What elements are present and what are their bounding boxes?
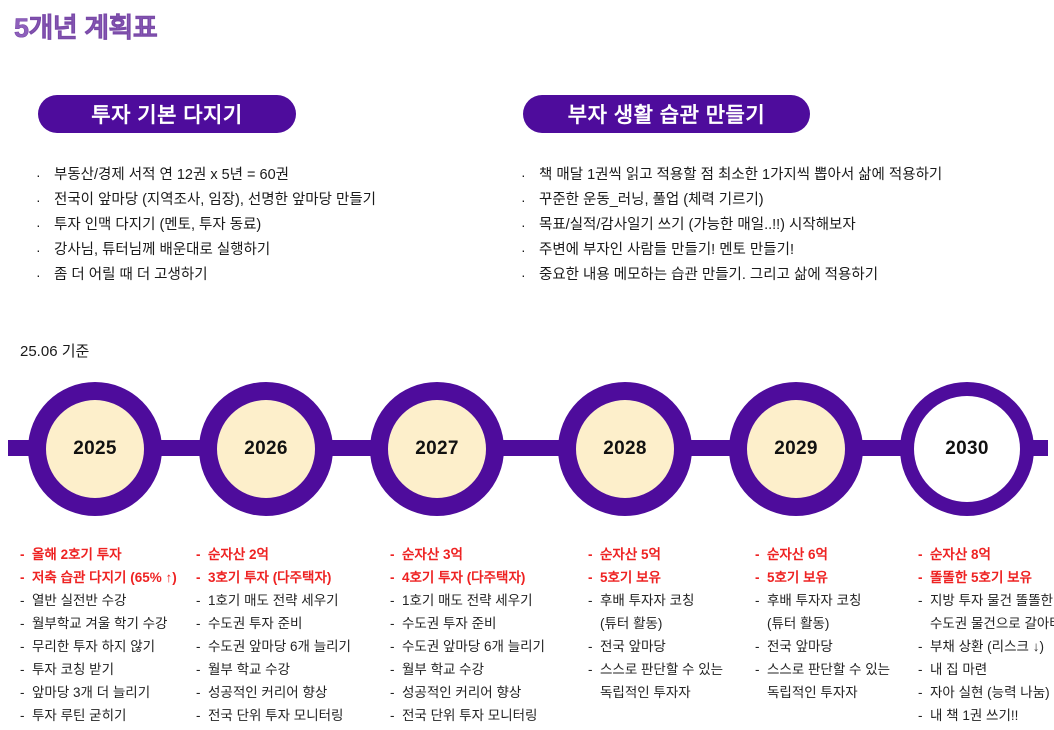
detail-item: -순자산 2억 (196, 543, 389, 566)
detail-dash-icon: - (390, 589, 402, 612)
detail-dash-icon: - (20, 704, 32, 727)
timeline: 2025 2026 2027 2028 2029 2030 (0, 375, 1054, 523)
timeline-year-label: 2025 (73, 438, 116, 460)
detail-item-label: 전국 단위 투자 모니터링 (208, 704, 343, 727)
detail-item-label: (튜터 활동) (600, 612, 662, 635)
detail-item: -후배 투자자 코칭 (588, 589, 754, 612)
timeline-node-2026[interactable]: 2026 (199, 382, 333, 516)
detail-item-label: 후배 투자자 코칭 (767, 589, 861, 612)
detail-item-label: 자아 실현 (능력 나눔) (930, 681, 1050, 704)
detail-item-label: 스스로 판단할 수 있는 (600, 658, 723, 681)
detail-item: -월부학교 겨울 학기 수강 (20, 612, 195, 635)
detail-item: -투자 코칭 받기 (20, 658, 195, 681)
detail-item-label: 내 책 1권 쓰기!! (930, 704, 1018, 727)
detail-item: -전국 단위 투자 모니터링 (196, 704, 389, 727)
bullet-item: ·중요한 내용 메모하는 습관 만들기. 그리고 삶에 적용하기 (521, 263, 942, 288)
timeline-node-fill: 2030 (914, 396, 1020, 502)
page-title: 5개년 계획표 (14, 6, 157, 45)
bullet-item-label: 좀 더 어릴 때 더 고생하기 (54, 263, 208, 288)
detail-dash-icon: - (196, 635, 208, 658)
detail-dash-icon: - (196, 704, 208, 727)
detail-dash-icon: - (755, 589, 767, 612)
detail-dash-icon: - (196, 658, 208, 681)
detail-item: -전국 앞마당 (755, 635, 917, 658)
bullet-item-label: 꾸준한 운동_러닝, 풀업 (체력 기르기) (539, 188, 764, 213)
detail-dash-icon: - (196, 681, 208, 704)
detail-item-label: 무리한 투자 하지 않기 (32, 635, 155, 658)
bullet-item-label: 중요한 내용 메모하는 습관 만들기. 그리고 삶에 적용하기 (539, 263, 878, 288)
detail-item: -후배 투자자 코칭 (755, 589, 917, 612)
detail-dash-icon: - (20, 681, 32, 704)
detail-item-label: 월부 학교 수강 (402, 658, 484, 681)
detail-item-label: 열반 실전반 수강 (32, 589, 126, 612)
detail-item: -올해 2호기 투자 (20, 543, 195, 566)
detail-item: -5호기 보유 (588, 566, 754, 589)
detail-item: -월부 학교 수강 (196, 658, 389, 681)
detail-dash-icon: - (20, 635, 32, 658)
detail-item-label: 성공적인 커리어 향상 (402, 681, 521, 704)
detail-item-label: 5호기 보유 (600, 566, 661, 589)
detail-dash-icon: - (20, 543, 32, 566)
detail-item-label: 1호기 매도 전략 세우기 (208, 589, 339, 612)
detail-item: -수도권 투자 준비 (390, 612, 587, 635)
timeline-node-fill: 2027 (388, 400, 486, 498)
timeline-node-2030[interactable]: 2030 (900, 382, 1034, 516)
bullet-dot-icon: · (36, 238, 54, 263)
detail-item: -스스로 판단할 수 있는 (588, 658, 754, 681)
detail-dash-icon: - (755, 658, 767, 681)
detail-item: -성공적인 커리어 향상 (196, 681, 389, 704)
bullet-dot-icon: · (521, 238, 539, 263)
detail-item-label: 3호기 투자 (다주택자) (208, 566, 331, 589)
detail-dash-icon: - (588, 658, 600, 681)
section-badge-rich-habits: 부자 생활 습관 만들기 (523, 95, 810, 133)
detail-item-label: 월부 학교 수강 (208, 658, 290, 681)
detail-dash-icon: - (196, 612, 208, 635)
bullet-item: ·목표/실적/감사일기 쓰기 (가능한 매일..!!) 시작해보자 (521, 213, 942, 238)
bullet-item: ·전국이 앞마당 (지역조사, 임장), 선명한 앞마당 만들기 (36, 188, 376, 213)
bullet-item: ·주변에 부자인 사람들 만들기! 멘토 만들기! (521, 238, 942, 263)
detail-item: -독립적인 투자자 (588, 681, 754, 704)
timeline-year-label: 2026 (244, 438, 287, 460)
detail-dash-icon: - (588, 635, 600, 658)
detail-item: -내 집 마련 (918, 658, 1054, 681)
detail-item-label: 앞마당 3개 더 늘리기 (32, 681, 150, 704)
detail-item-label: 순자산 6억 (767, 543, 828, 566)
detail-item-label: 수도권 앞마당 6개 늘리기 (208, 635, 351, 658)
detail-item: -월부 학교 수강 (390, 658, 587, 681)
detail-item: -내 책 1권 쓰기!! (918, 704, 1054, 727)
detail-dash-icon: - (20, 612, 32, 635)
detail-item-label: 부채 상환 (리스크 ↓) (930, 635, 1044, 658)
detail-item: -수도권 앞마당 6개 늘리기 (196, 635, 389, 658)
detail-item: -1호기 매도 전략 세우기 (196, 589, 389, 612)
detail-item: -열반 실전반 수강 (20, 589, 195, 612)
detail-item-label: 순자산 5억 (600, 543, 661, 566)
detail-dash-icon: - (755, 635, 767, 658)
detail-item: -부채 상환 (리스크 ↓) (918, 635, 1054, 658)
timeline-node-2025[interactable]: 2025 (28, 382, 162, 516)
bullet-item-label: 책 매달 1권씩 읽고 적용할 점 최소한 1가지씩 뽑아서 삶에 적용하기 (539, 163, 942, 188)
detail-item: -(튜터 활동) (588, 612, 754, 635)
detail-dash-icon: - (390, 635, 402, 658)
timeline-node-fill: 2029 (747, 400, 845, 498)
detail-dash-icon: - (918, 589, 930, 612)
detail-item-label: 똘똘한 5호기 보유 (930, 566, 1032, 589)
detail-item-label: 스스로 판단할 수 있는 (767, 658, 890, 681)
detail-item: -5호기 보유 (755, 566, 917, 589)
detail-column-2028: -순자산 5억-5호기 보유-후배 투자자 코칭-(튜터 활동)-전국 앞마당-… (588, 543, 754, 704)
bullet-item: ·투자 인맥 다지기 (멘토, 투자 동료) (36, 213, 376, 238)
detail-item-label: 투자 코칭 받기 (32, 658, 114, 681)
detail-item: -자아 실현 (능력 나눔) (918, 681, 1054, 704)
detail-dash-icon: - (918, 658, 930, 681)
detail-item: -지방 투자 물건 똘똘한 (918, 589, 1054, 612)
detail-item-label: 저축 습관 다지기 (65% ↑) (32, 566, 177, 589)
detail-item: -순자산 5억 (588, 543, 754, 566)
detail-item: -투자 루틴 굳히기 (20, 704, 195, 727)
detail-item-label: 성공적인 커리어 향상 (208, 681, 327, 704)
detail-item-label: 순자산 3억 (402, 543, 463, 566)
bullet-dot-icon: · (36, 263, 54, 288)
detail-dash-icon: - (20, 658, 32, 681)
detail-dash-icon: - (588, 543, 600, 566)
detail-dash-icon: - (390, 704, 402, 727)
detail-item-label: 수도권 앞마당 6개 늘리기 (402, 635, 545, 658)
detail-column-2027: -순자산 3억-4호기 투자 (다주택자)-1호기 매도 전략 세우기-수도권 … (390, 543, 587, 727)
bullet-item-label: 부동산/경제 서적 연 12권 x 5년 = 60권 (54, 163, 289, 188)
detail-item-label: 1호기 매도 전략 세우기 (402, 589, 533, 612)
timeline-year-label: 2029 (774, 438, 817, 460)
detail-dash-icon: - (755, 566, 767, 589)
bullet-item: ·꾸준한 운동_러닝, 풀업 (체력 기르기) (521, 188, 942, 213)
detail-item-label: 후배 투자자 코칭 (600, 589, 694, 612)
bullet-item: ·강사님, 튜터님께 배운대로 실행하기 (36, 238, 376, 263)
bullet-dot-icon: · (521, 163, 539, 188)
detail-dash-icon: - (918, 704, 930, 727)
detail-dash-icon: - (390, 681, 402, 704)
detail-item: -수도권 물건으로 갈아타기 (918, 612, 1054, 635)
detail-dash-icon: - (20, 589, 32, 612)
detail-dash-icon: - (196, 543, 208, 566)
detail-item-label: 월부학교 겨울 학기 수강 (32, 612, 167, 635)
bullet-dot-icon: · (521, 188, 539, 213)
detail-dash-icon: - (918, 543, 930, 566)
detail-item-label: 수도권 투자 준비 (208, 612, 302, 635)
bullet-item-label: 목표/실적/감사일기 쓰기 (가능한 매일..!!) 시작해보자 (539, 213, 856, 238)
detail-item: -독립적인 투자자 (755, 681, 917, 704)
detail-item-label: (튜터 활동) (767, 612, 829, 635)
detail-column-2029: -순자산 6억-5호기 보유-후배 투자자 코칭-(튜터 활동)-전국 앞마당-… (755, 543, 917, 704)
detail-item-label: 올해 2호기 투자 (32, 543, 122, 566)
section-badge-label: 투자 기본 다지기 (91, 99, 242, 129)
detail-item-label: 순자산 2억 (208, 543, 269, 566)
bullet-item: ·책 매달 1권씩 읽고 적용할 점 최소한 1가지씩 뽑아서 삶에 적용하기 (521, 163, 942, 188)
detail-dash-icon: - (390, 543, 402, 566)
bullet-item-label: 주변에 부자인 사람들 만들기! 멘토 만들기! (539, 238, 794, 263)
timeline-node-2028[interactable]: 2028 (558, 382, 692, 516)
bullet-list-investment-basics: ·부동산/경제 서적 연 12권 x 5년 = 60권·전국이 앞마당 (지역조… (36, 163, 376, 288)
detail-item-label: 전국 앞마당 (600, 635, 666, 658)
detail-item-label: 순자산 8억 (930, 543, 991, 566)
detail-item-label: 5호기 보유 (767, 566, 828, 589)
detail-item: -4호기 투자 (다주택자) (390, 566, 587, 589)
detail-item-label: 독립적인 투자자 (600, 681, 691, 704)
detail-item: -성공적인 커리어 향상 (390, 681, 587, 704)
detail-item: -스스로 판단할 수 있는 (755, 658, 917, 681)
detail-item: -3호기 투자 (다주택자) (196, 566, 389, 589)
bullet-list-rich-habits: ·책 매달 1권씩 읽고 적용할 점 최소한 1가지씩 뽑아서 삶에 적용하기·… (521, 163, 942, 288)
timeline-node-2029[interactable]: 2029 (729, 382, 863, 516)
timeline-node-2027[interactable]: 2027 (370, 382, 504, 516)
detail-item-label: 투자 루틴 굳히기 (32, 704, 126, 727)
detail-dash-icon: - (390, 658, 402, 681)
detail-item-label: 수도권 물건으로 갈아타기 (930, 612, 1054, 635)
detail-column-2025: -올해 2호기 투자-저축 습관 다지기 (65% ↑)-열반 실전반 수강-월… (20, 543, 195, 727)
bullet-item: ·부동산/경제 서적 연 12권 x 5년 = 60권 (36, 163, 376, 188)
detail-dash-icon: - (390, 612, 402, 635)
timeline-node-fill: 2026 (217, 400, 315, 498)
detail-item: -수도권 투자 준비 (196, 612, 389, 635)
bullet-item: ·좀 더 어릴 때 더 고생하기 (36, 263, 376, 288)
section-badge-investment-basics: 투자 기본 다지기 (38, 95, 296, 133)
bullet-dot-icon: · (36, 163, 54, 188)
detail-item: -1호기 매도 전략 세우기 (390, 589, 587, 612)
bullet-dot-icon: · (36, 213, 54, 238)
detail-item-label: 전국 단위 투자 모니터링 (402, 704, 537, 727)
detail-dash-icon: - (918, 681, 930, 704)
timeline-node-fill: 2028 (576, 400, 674, 498)
detail-dash-icon: - (20, 566, 32, 589)
detail-dash-icon: - (755, 543, 767, 566)
detail-item: -순자산 3억 (390, 543, 587, 566)
timeline-year-label: 2027 (415, 438, 458, 460)
detail-item: -저축 습관 다지기 (65% ↑) (20, 566, 195, 589)
detail-dash-icon: - (588, 589, 600, 612)
detail-item: -수도권 앞마당 6개 늘리기 (390, 635, 587, 658)
detail-item: -전국 단위 투자 모니터링 (390, 704, 587, 727)
timeline-note: 25.06 기준 (20, 340, 89, 361)
bullet-item-label: 전국이 앞마당 (지역조사, 임장), 선명한 앞마당 만들기 (54, 188, 376, 213)
detail-item-label: 지방 투자 물건 똘똘한 (930, 589, 1053, 612)
timeline-rail (8, 440, 1048, 456)
section-badge-label: 부자 생활 습관 만들기 (568, 99, 765, 129)
detail-item: -순자산 8억 (918, 543, 1054, 566)
bullet-item-label: 투자 인맥 다지기 (멘토, 투자 동료) (54, 213, 261, 238)
bullet-item-label: 강사님, 튜터님께 배운대로 실행하기 (54, 238, 270, 263)
detail-item: -순자산 6억 (755, 543, 917, 566)
detail-item-label: 내 집 마련 (930, 658, 987, 681)
detail-dash-icon: - (918, 635, 930, 658)
detail-item: -앞마당 3개 더 늘리기 (20, 681, 195, 704)
detail-column-2030: -순자산 8억-똘똘한 5호기 보유-지방 투자 물건 똘똘한-수도권 물건으로… (918, 543, 1054, 727)
detail-dash-icon: - (390, 566, 402, 589)
detail-dash-icon: - (588, 566, 600, 589)
detail-dash-icon: - (196, 589, 208, 612)
timeline-node-fill: 2025 (46, 400, 144, 498)
timeline-year-label: 2030 (945, 438, 988, 460)
detail-item-label: 전국 앞마당 (767, 635, 833, 658)
bullet-dot-icon: · (36, 188, 54, 213)
bullet-dot-icon: · (521, 213, 539, 238)
detail-item-label: 4호기 투자 (다주택자) (402, 566, 525, 589)
detail-dash-icon: - (918, 566, 930, 589)
detail-item: -무리한 투자 하지 않기 (20, 635, 195, 658)
timeline-year-label: 2028 (603, 438, 646, 460)
detail-item: -똘똘한 5호기 보유 (918, 566, 1054, 589)
bullet-dot-icon: · (521, 263, 539, 288)
detail-item-label: 독립적인 투자자 (767, 681, 858, 704)
detail-item-label: 수도권 투자 준비 (402, 612, 496, 635)
detail-dash-icon: - (196, 566, 208, 589)
detail-item: -전국 앞마당 (588, 635, 754, 658)
detail-item: -(튜터 활동) (755, 612, 917, 635)
detail-column-2026: -순자산 2억-3호기 투자 (다주택자)-1호기 매도 전략 세우기-수도권 … (196, 543, 389, 727)
